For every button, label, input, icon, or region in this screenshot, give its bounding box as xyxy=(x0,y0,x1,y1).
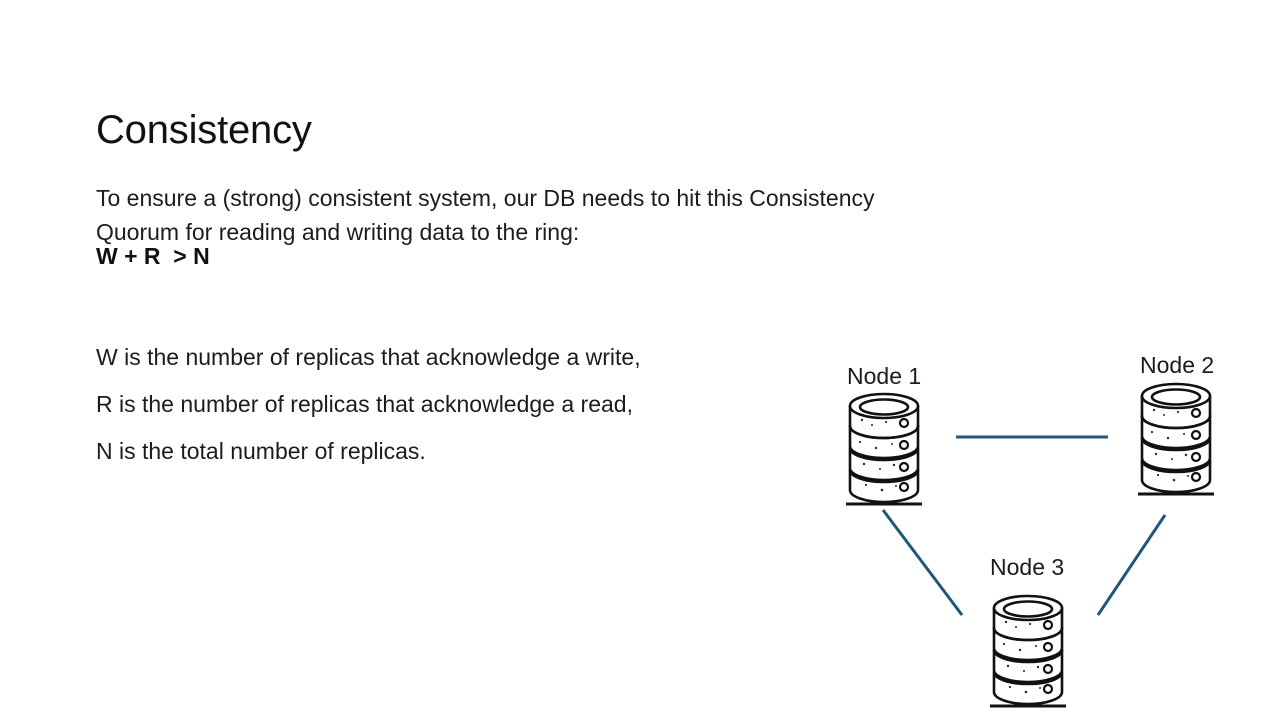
intro-paragraph: To ensure a (strong) consistent system, … xyxy=(96,181,956,249)
quorum-formula: W + R > N xyxy=(96,240,210,272)
database-stack-icon xyxy=(846,394,922,504)
node-1: Node 1 xyxy=(846,363,922,504)
database-stack-icon xyxy=(1138,384,1214,494)
node-2-label: Node 2 xyxy=(1140,352,1214,378)
definition-line-r: R is the number of replicas that acknowl… xyxy=(96,381,876,428)
node-ring-diagram: Node 1 Node 2 Node 3 xyxy=(820,330,1280,720)
diagram-svg: Node 1 Node 2 Node 3 xyxy=(820,330,1280,720)
node-3-label: Node 3 xyxy=(990,554,1064,580)
node-2: Node 2 xyxy=(1138,352,1214,494)
slide-canvas: Consistency To ensure a (strong) consist… xyxy=(0,0,1280,720)
definition-list: W is the number of replicas that acknowl… xyxy=(96,334,876,475)
node-3: Node 3 xyxy=(990,554,1066,706)
page-title: Consistency xyxy=(96,107,312,153)
database-stack-icon xyxy=(990,596,1066,706)
edge-node1-node3 xyxy=(883,510,962,615)
edge-node2-node3 xyxy=(1098,515,1165,615)
node-1-label: Node 1 xyxy=(847,363,921,389)
definition-line-n: N is the total number of replicas. xyxy=(96,428,876,475)
definition-line-w: W is the number of replicas that acknowl… xyxy=(96,334,876,381)
